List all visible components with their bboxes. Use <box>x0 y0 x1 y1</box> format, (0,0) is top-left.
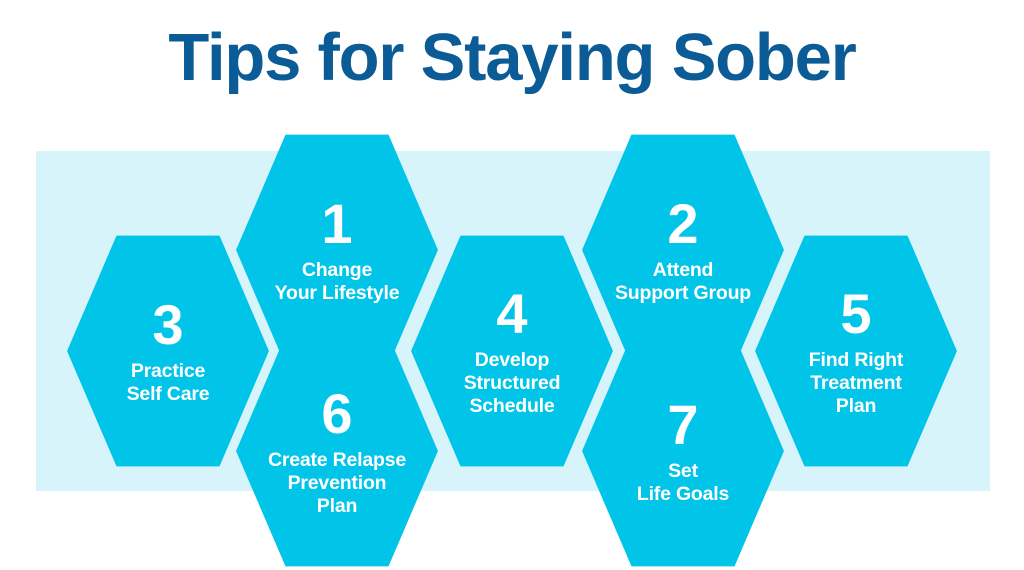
step-label-line-2: Your Lifestyle <box>275 282 400 305</box>
step-number: 1 <box>321 195 352 253</box>
step-label: Change Your Lifestyle <box>275 259 400 305</box>
step-label-line-3: Schedule <box>464 395 561 418</box>
hexagon-step-6[interactable]: 6 Create Relapse Prevention Plan <box>234 332 440 570</box>
step-label-line-1: Set <box>637 460 729 483</box>
step-number: 6 <box>321 385 352 443</box>
step-label-line-3: Plan <box>268 495 406 518</box>
step-label-line-2: Treatment <box>809 372 903 395</box>
hexagon-step-4[interactable]: 4 Develop Structured Schedule <box>409 232 615 470</box>
hexagon-step-1[interactable]: 1 Change Your Lifestyle <box>234 131 440 369</box>
hexagon-step-3[interactable]: 3 Practice Self Care <box>65 232 271 470</box>
step-label-line-1: Develop <box>464 349 561 372</box>
step-label: Set Life Goals <box>637 460 729 506</box>
step-label-line-1: Find Right <box>809 349 903 372</box>
step-label-line-1: Change <box>275 259 400 282</box>
step-label: Develop Structured Schedule <box>464 349 561 418</box>
step-label-line-2: Self Care <box>127 383 210 406</box>
step-label-line-1: Attend <box>615 259 751 282</box>
step-number: 2 <box>667 195 698 253</box>
step-number: 4 <box>496 285 527 343</box>
step-label-line-2: Structured <box>464 372 561 395</box>
step-label-line-2: Life Goals <box>637 483 729 506</box>
hexagon-step-5[interactable]: 5 Find Right Treatment Plan <box>753 232 959 470</box>
step-label: Practice Self Care <box>127 360 210 406</box>
step-label-line-2: Support Group <box>615 282 751 305</box>
hexagon-grid: 3 Practice Self Care 1 Change Your Lifes… <box>0 0 1024 538</box>
step-label-line-1: Create Relapse <box>268 449 406 472</box>
step-label: Attend Support Group <box>615 259 751 305</box>
step-number: 7 <box>667 396 698 454</box>
step-label-line-2: Prevention <box>268 472 406 495</box>
step-label-line-3: Plan <box>809 395 903 418</box>
step-label: Find Right Treatment Plan <box>809 349 903 418</box>
step-label: Create Relapse Prevention Plan <box>268 449 406 518</box>
hexagon-step-7[interactable]: 7 Set Life Goals <box>580 332 786 570</box>
step-number: 3 <box>152 296 183 354</box>
step-number: 5 <box>840 285 871 343</box>
infographic-canvas: Tips for Staying Sober 3 Practice Self C… <box>0 0 1024 538</box>
hexagon-step-2[interactable]: 2 Attend Support Group <box>580 131 786 369</box>
step-label-line-1: Practice <box>127 360 210 383</box>
